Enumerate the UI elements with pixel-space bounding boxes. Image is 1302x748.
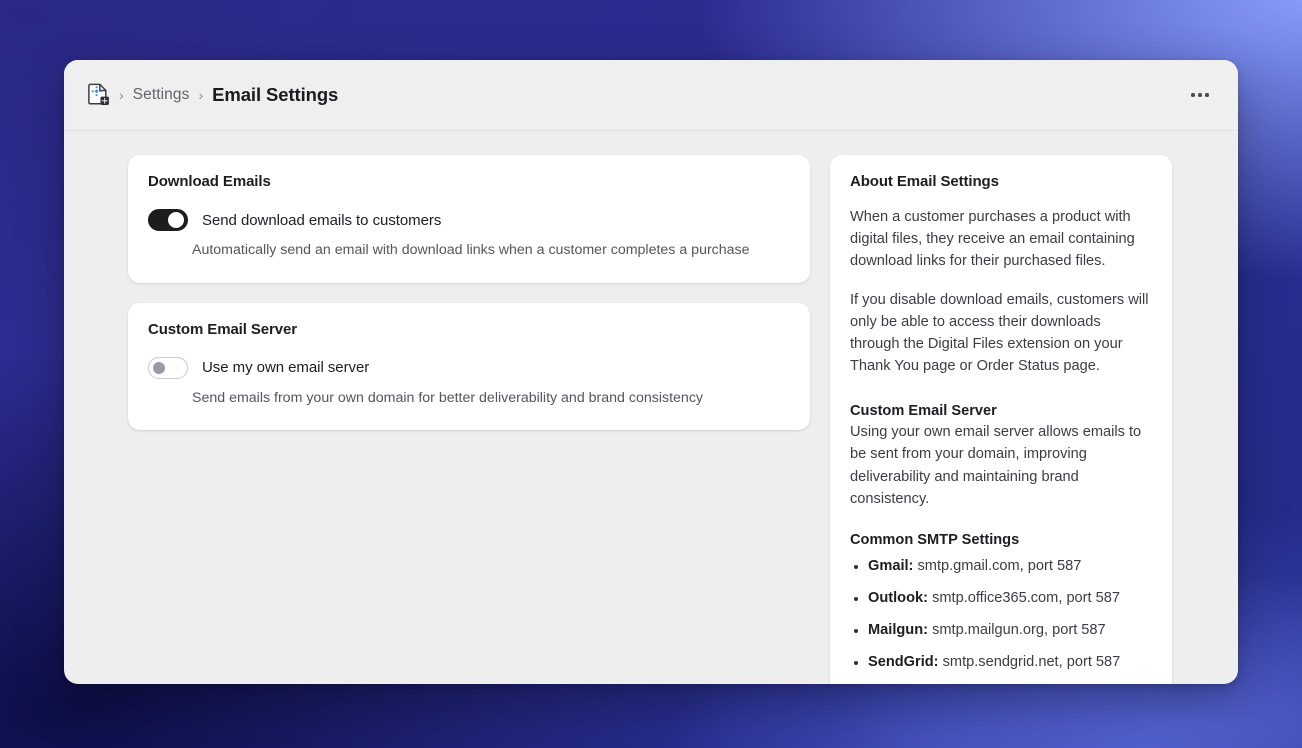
- use-own-email-server-description: Send emails from your own domain for bet…: [192, 388, 790, 409]
- breadcrumb-separator-2: ›: [198, 88, 203, 102]
- smtp-provider-name: SendGrid:: [868, 654, 939, 670]
- page-title: Email Settings: [212, 84, 338, 106]
- smtp-provider-name: Mailgun:: [868, 622, 928, 638]
- smtp-provider-value: smtp.office365.com, port 587: [932, 590, 1120, 606]
- breadcrumb-separator-1: ›: [119, 88, 124, 102]
- smtp-settings-list: Gmail: smtp.gmail.com, port 587 Outlook:…: [850, 556, 1152, 674]
- settings-main-column: Download Emails Send download emails to …: [128, 155, 810, 430]
- send-download-emails-label: Send download emails to customers: [202, 212, 441, 229]
- smtp-provider-value: smtp.sendgrid.net, port 587: [943, 654, 1121, 670]
- more-dot-1: [1191, 93, 1195, 97]
- about-custom-server-body: Using your own email server allows email…: [850, 421, 1152, 510]
- toggle-knob: [153, 362, 165, 374]
- settings-content: Download Emails Send download emails to …: [64, 131, 1238, 684]
- more-dot-2: [1198, 93, 1202, 97]
- smtp-provider-value: smtp.mailgun.org, port 587: [932, 622, 1106, 638]
- smtp-provider-name: Outlook:: [868, 590, 928, 606]
- breadcrumb-settings-link[interactable]: Settings: [133, 86, 190, 104]
- download-emails-toggle-row[interactable]: Send download emails to customers: [148, 209, 790, 231]
- toggle-knob: [168, 212, 184, 228]
- custom-email-server-card-title: Custom Email Server: [148, 321, 790, 338]
- app-window: › Settings › Email Settings Download Ema…: [64, 60, 1238, 684]
- use-own-email-server-toggle[interactable]: [148, 357, 188, 379]
- about-paragraph-1: When a customer purchases a product with…: [850, 206, 1152, 273]
- window-titlebar: › Settings › Email Settings: [64, 60, 1238, 131]
- about-paragraph-2: If you disable download emails, customer…: [850, 289, 1152, 378]
- download-emails-card-title: Download Emails: [148, 173, 790, 190]
- about-custom-server-heading: Custom Email Server: [850, 403, 1152, 419]
- list-item: Outlook: smtp.office365.com, port 587: [850, 588, 1152, 610]
- smtp-provider-name: Gmail:: [868, 558, 913, 574]
- custom-email-server-toggle-row[interactable]: Use my own email server: [148, 357, 790, 379]
- about-email-settings-card: About Email Settings When a customer pur…: [830, 155, 1172, 684]
- about-smtp-heading: Common SMTP Settings: [850, 532, 1152, 548]
- list-item: SendGrid: smtp.sendgrid.net, port 587: [850, 652, 1152, 674]
- send-download-emails-toggle[interactable]: [148, 209, 188, 231]
- more-dot-3: [1205, 93, 1209, 97]
- more-options-button[interactable]: [1184, 80, 1216, 110]
- send-download-emails-description: Automatically send an email with downloa…: [192, 240, 790, 261]
- download-emails-card: Download Emails Send download emails to …: [128, 155, 810, 283]
- custom-email-server-card: Custom Email Server Use my own email ser…: [128, 303, 810, 431]
- use-own-email-server-label: Use my own email server: [202, 359, 369, 376]
- settings-side-column: About Email Settings When a customer pur…: [830, 155, 1172, 684]
- list-item: Mailgun: smtp.mailgun.org, port 587: [850, 620, 1152, 642]
- smtp-provider-value: smtp.gmail.com, port 587: [917, 558, 1081, 574]
- digital-file-icon: [88, 83, 110, 107]
- breadcrumb: › Settings › Email Settings: [88, 83, 1184, 107]
- list-item: Gmail: smtp.gmail.com, port 587: [850, 556, 1152, 578]
- about-panel-title: About Email Settings: [850, 173, 1152, 190]
